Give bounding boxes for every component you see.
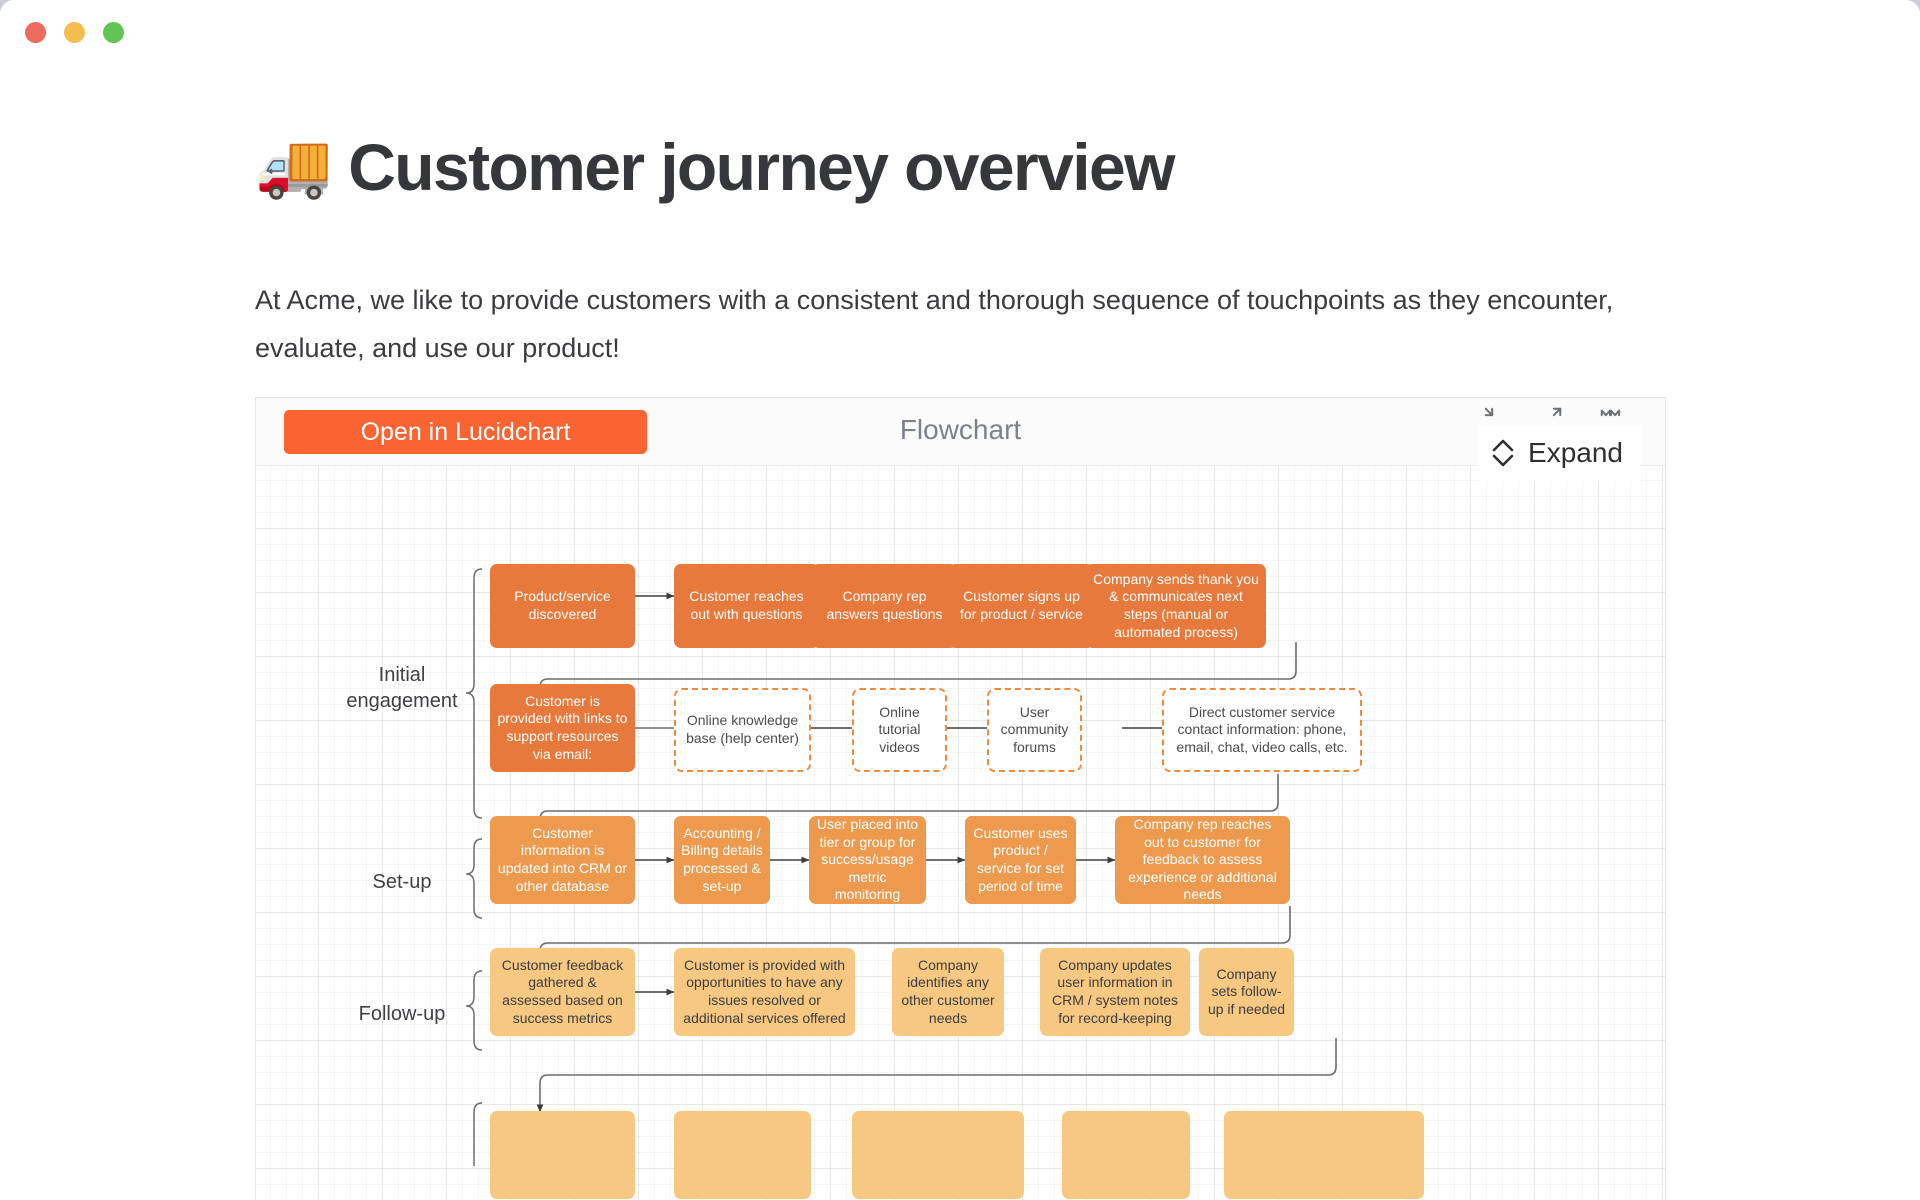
flow-node[interactable]: Online knowledge base (help center) (674, 688, 811, 772)
flow-node[interactable] (1224, 1111, 1424, 1199)
flow-node[interactable]: Company identifies any other customer ne… (892, 948, 1004, 1036)
page-subtitle: At Acme, we like to provide customers wi… (255, 276, 1645, 372)
page-title-row: 🚚 Customer journey overview (255, 134, 1174, 200)
flow-node[interactable] (674, 1111, 811, 1199)
flow-node[interactable]: User placed into tier or group for succe… (809, 816, 926, 904)
window-titlebar (0, 0, 1920, 64)
embed-toolbar: Open in Lucidchart Flowchart (256, 398, 1665, 466)
flow-node[interactable]: Online tutorial videos (852, 688, 947, 772)
app-window: 🚚 Customer journey overview At Acme, we … (0, 0, 1920, 1200)
flow-node[interactable] (852, 1111, 1024, 1199)
delivery-truck-icon: 🚚 (255, 136, 332, 198)
lucidchart-logo-icon[interactable] (1599, 406, 1621, 428)
flow-node[interactable]: Customer is provided with opportunities … (674, 948, 855, 1036)
close-window-dot[interactable] (25, 22, 46, 43)
flow-node[interactable]: Direct customer service contact informat… (1162, 688, 1362, 772)
flow-node[interactable]: Product/service discovered (490, 564, 635, 648)
maximize-window-dot[interactable] (103, 22, 124, 43)
flow-node[interactable]: Customer feedback gathered & assessed ba… (490, 948, 635, 1036)
flow-node[interactable]: Customer information is updated into CRM… (490, 816, 635, 904)
flow-node[interactable] (490, 1111, 635, 1199)
document-body: 🚚 Customer journey overview At Acme, we … (0, 64, 1920, 1200)
expand-tooltip[interactable]: Expand (1478, 426, 1641, 482)
page-title: Customer journey overview (348, 134, 1174, 200)
flow-node[interactable]: Company sets follow-up if needed (1199, 948, 1294, 1036)
flow-node[interactable]: Customer signs up for product / service (949, 564, 1094, 648)
flow-node[interactable]: Company sends thank you & communicates n… (1086, 564, 1266, 648)
embed-toolbar-icons (1483, 406, 1621, 428)
flow-node[interactable]: Customer reaches out with questions (674, 564, 819, 648)
embed-document-title: Flowchart (256, 414, 1665, 446)
fullscreen-icon[interactable] (1541, 406, 1563, 428)
expand-tooltip-label: Expand (1528, 437, 1623, 469)
flow-node[interactable]: Company updates user information in CRM … (1040, 948, 1190, 1036)
flow-node[interactable]: Customer uses product / service for set … (965, 816, 1076, 904)
lucidchart-embed-card: Open in Lucidchart Flowchart (255, 397, 1666, 1200)
collapse-icon[interactable] (1483, 406, 1505, 428)
flow-node[interactable]: Customer is provided with links to suppo… (490, 684, 635, 772)
flow-node[interactable]: User community forums (987, 688, 1082, 772)
minimize-window-dot[interactable] (64, 22, 85, 43)
flow-node[interactable]: Company rep reaches out to customer for … (1115, 816, 1290, 904)
stage-label-initial-engagement: Initial engagement (332, 662, 472, 714)
flow-node[interactable]: Company rep answers questions (812, 564, 957, 648)
flow-node[interactable]: Accounting / Billing details processed &… (674, 816, 770, 904)
stage-label-set-up: Set-up (332, 869, 472, 895)
flowchart-canvas[interactable]: Initial engagement Set-up Follow-up Prod… (256, 466, 1665, 1200)
expand-chevrons-icon (1490, 436, 1516, 470)
stage-label-follow-up: Follow-up (332, 1001, 472, 1027)
flow-node[interactable] (1062, 1111, 1190, 1199)
